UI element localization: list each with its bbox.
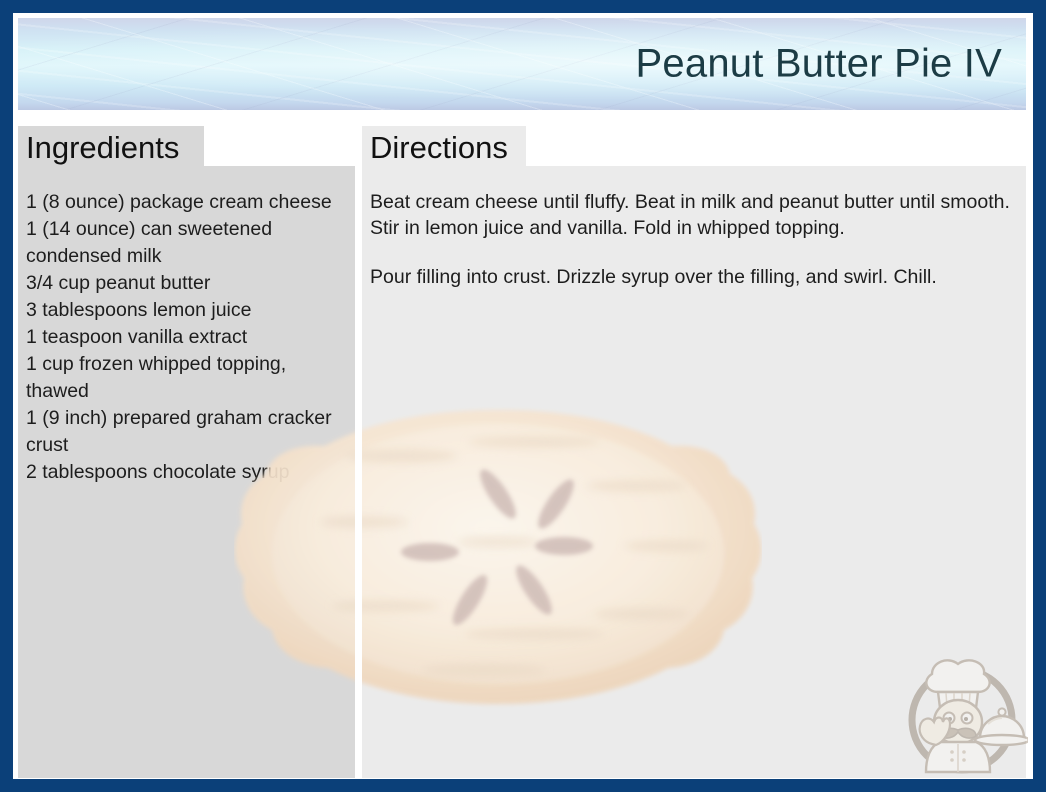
- list-item: 1 (8 ounce) package cream cheese: [26, 189, 346, 216]
- header-banner: Peanut Butter Pie IV: [18, 18, 1026, 110]
- list-item: 2 tablespoons chocolate syrup: [26, 459, 346, 486]
- direction-paragraph: Beat cream cheese until fluffy. Beat in …: [370, 189, 1010, 241]
- ingredients-panel: Ingredients 1 (8 ounce) package cream ch…: [18, 126, 355, 778]
- recipe-card: Peanut Butter Pie IV Ingredients 1 (8 ou…: [0, 0, 1046, 792]
- ingredient-list: 1 (8 ounce) package cream cheese 1 (14 o…: [26, 189, 346, 486]
- card-border-bottom: [0, 779, 1046, 792]
- directions-heading: Directions: [370, 130, 508, 166]
- card-border-top: [0, 0, 1046, 13]
- column-gutter: [355, 126, 362, 778]
- ingredients-heading-notch: [204, 126, 355, 166]
- card-border-right: [1033, 0, 1046, 792]
- ingredients-heading: Ingredients: [26, 130, 179, 166]
- directions-heading-notch: [526, 126, 1026, 166]
- list-item: 1 (14 ounce) can sweetened condensed mil…: [26, 216, 346, 270]
- recipe-title: Peanut Butter Pie IV: [636, 42, 1002, 87]
- chef-mascot-logo: [896, 646, 1028, 778]
- list-item: 1 teaspoon vanilla extract: [26, 324, 346, 351]
- direction-paragraph: Pour filling into crust. Drizzle syrup o…: [370, 264, 1010, 290]
- list-item: 3 tablespoons lemon juice: [26, 297, 346, 324]
- list-item: 1 cup frozen whipped topping, thawed: [26, 351, 346, 405]
- chef-jacket: [926, 742, 990, 772]
- card-border-left: [0, 0, 13, 792]
- directions-body: Beat cream cheese until fluffy. Beat in …: [370, 189, 1010, 290]
- list-item: 1 (9 inch) prepared graham cracker crust: [26, 405, 346, 459]
- serving-cloche-icon: [975, 708, 1028, 745]
- list-item: 3/4 cup peanut butter: [26, 270, 346, 297]
